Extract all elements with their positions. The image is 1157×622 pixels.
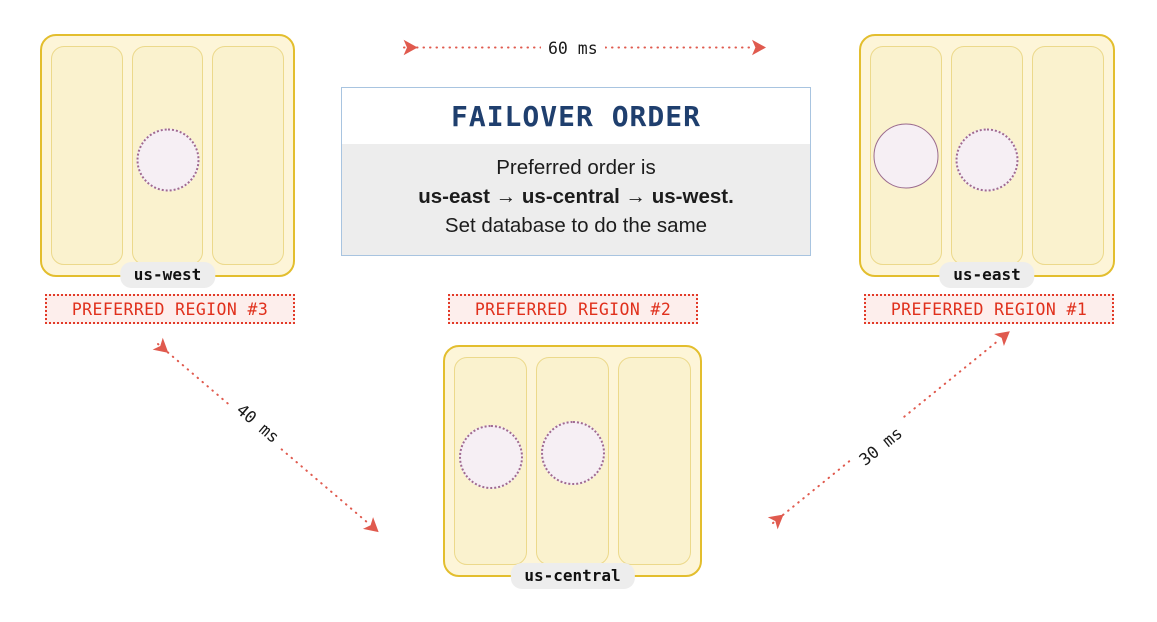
zone-us-east-2 bbox=[951, 46, 1023, 265]
zone-list-us-west bbox=[40, 34, 295, 277]
zone-list-us-east bbox=[859, 34, 1115, 277]
replica-follower-us-east-2 bbox=[956, 128, 1019, 191]
zone-us-central-2 bbox=[536, 357, 609, 565]
replica-follower-us-central-2 bbox=[541, 421, 605, 485]
preferred-region-badge-us-central: PREFERRED REGION #2 bbox=[448, 294, 698, 324]
zone-us-east-1 bbox=[870, 46, 942, 265]
latency-label-central-east: 30 ms bbox=[849, 418, 912, 474]
replica-leader-us-east-1 bbox=[874, 123, 939, 188]
zone-us-west-1 bbox=[51, 46, 123, 265]
zone-us-west-3 bbox=[212, 46, 284, 265]
zone-us-central-3 bbox=[618, 357, 691, 565]
region-label-us-east: us-east bbox=[939, 262, 1034, 288]
preferred-region-badge-us-west: PREFERRED REGION #3 bbox=[45, 294, 295, 324]
callout-line-3: Set database to do the same bbox=[352, 211, 800, 240]
preferred-region-badge-us-east: PREFERRED REGION #1 bbox=[864, 294, 1114, 324]
callout-title: FAILOVER ORDER bbox=[342, 88, 810, 144]
replica-follower-us-west-2 bbox=[136, 128, 199, 191]
callout-line-1: Preferred order is bbox=[352, 153, 800, 182]
region-us-central[interactable]: us-central bbox=[443, 345, 702, 577]
zone-us-central-1 bbox=[454, 357, 527, 565]
zone-list-us-central bbox=[443, 345, 702, 577]
callout-body: Preferred order is us-east → us-central … bbox=[342, 144, 810, 252]
region-label-us-west: us-west bbox=[120, 262, 215, 288]
callout-line-2: us-east → us-central → us-west. bbox=[352, 182, 800, 211]
zone-us-east-3 bbox=[1032, 46, 1104, 265]
failover-order-callout: FAILOVER ORDER Preferred order is us-eas… bbox=[341, 87, 811, 256]
zone-us-west-2 bbox=[132, 46, 204, 265]
replica-follower-us-central-1 bbox=[459, 425, 523, 489]
latency-label-west-central: 40 ms bbox=[227, 395, 289, 452]
region-us-east[interactable]: us-east bbox=[859, 34, 1115, 277]
latency-label-west-east: 60 ms bbox=[541, 38, 605, 59]
region-label-us-central: us-central bbox=[510, 563, 634, 589]
failover-order-diagram: 60 ms 40 ms 30 ms us-west PREFERRED REGI… bbox=[0, 0, 1157, 622]
region-us-west[interactable]: us-west bbox=[40, 34, 295, 277]
